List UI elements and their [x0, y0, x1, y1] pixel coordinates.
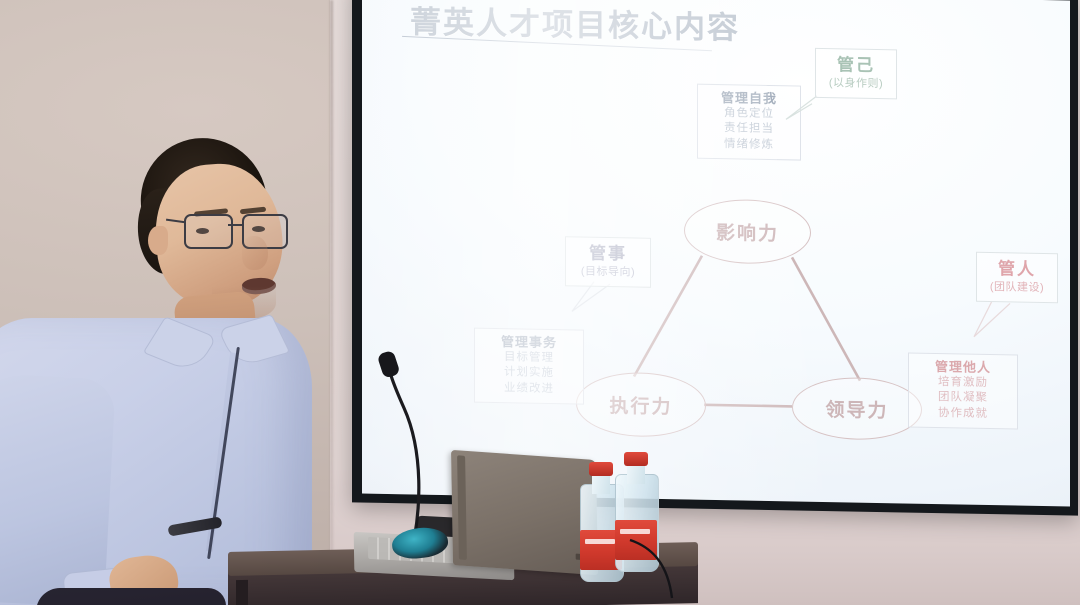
laptop-lid	[451, 450, 598, 575]
callout-guan-ren-subtitle: (团队建设)	[987, 280, 1047, 295]
desk-leg	[236, 580, 248, 605]
screenshot-root: 菁英人才项目核心内容 影响力 执行力 领导力 管理自我 角色定位 责任担当	[0, 0, 1080, 605]
slide-content: 菁英人才项目核心内容 影响力 执行力 领导力 管理自我 角色定位 责任担当	[362, 0, 1070, 507]
laptop-hinge	[457, 455, 467, 560]
callout-guan-shi-subtitle: (目标导向)	[576, 264, 640, 279]
bottle-cap	[624, 452, 648, 466]
callout-guan-ji-title: 管己	[826, 54, 886, 77]
callout-guan-shi: 管事 (目标导向)	[565, 236, 651, 287]
callout-guan-shi-title: 管事	[576, 242, 640, 265]
callout-guan-ji: 管己 (以身作则)	[815, 48, 897, 99]
presenter-ear	[148, 226, 168, 255]
callout-guan-ren-title: 管人	[987, 258, 1047, 281]
callout-guan-ji-subtitle: (以身作则)	[826, 76, 886, 91]
projection-screen-surface: 菁英人才项目核心内容 影响力 执行力 领导力 管理自我 角色定位 责任担当	[362, 0, 1070, 507]
projection-screen-frame: 菁英人才项目核心内容 影响力 执行力 领导力 管理自我 角色定位 责任担当	[352, 0, 1078, 516]
glasses-bridge	[228, 224, 244, 226]
bottle-cap	[589, 462, 613, 476]
presenter-trousers	[36, 588, 226, 605]
presenter	[0, 118, 350, 605]
callout-guan-ren: 管人 (团队建设)	[976, 252, 1058, 303]
glasses-lens-left	[184, 214, 233, 249]
presenter-nose	[242, 236, 268, 270]
callout-tails	[362, 0, 1070, 507]
power-cable	[628, 536, 718, 605]
presenter-glasses	[180, 214, 292, 248]
